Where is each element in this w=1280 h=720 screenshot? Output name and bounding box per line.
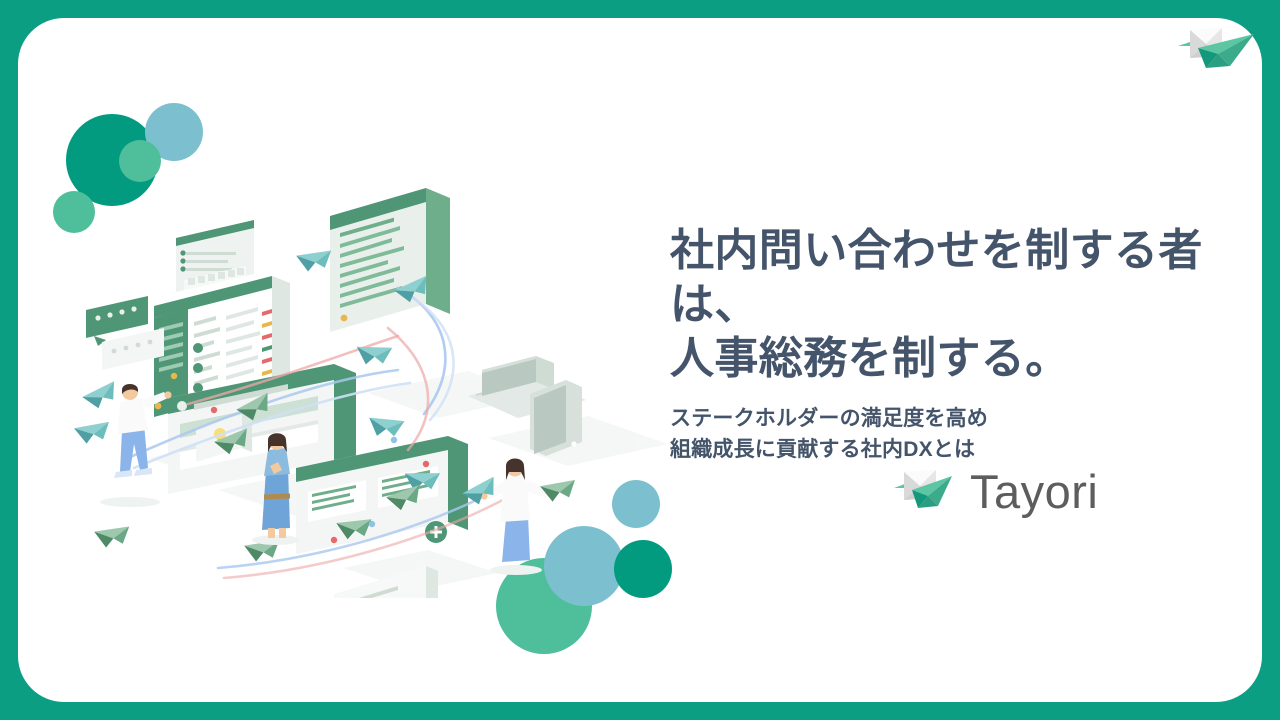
brand-lockup: Tayori [894,462,1098,521]
person-woman-right [460,459,575,576]
ui-chat-bubbles [86,296,164,370]
device-tablet [530,380,582,456]
slide-root: 社内問い合わせを制する者は、 人事総務を制する。 ステークホルダーの満足度を高め… [0,0,1280,720]
slide-card: 社内問い合わせを制する者は、 人事総務を制する。 ステークホルダーの満足度を高め… [18,18,1262,702]
tayori-logo-icon [894,462,956,521]
isometric-illustration [68,168,688,598]
tayori-wordmark: Tayori [970,468,1098,515]
text-column: 社内問い合わせを制する者は、 人事総務を制する。 ステークホルダーの満足度を高め… [670,224,1262,466]
ui-card-document-tall [330,188,450,332]
page-title: 社内問い合わせを制する者は、 人事総務を制する。 [670,224,1262,386]
ui-card-checklist [176,220,254,292]
tayori-corner-logo-icon [1178,22,1262,74]
page-subtitle: ステークホルダーの満足度を高め 組織成長に貢献する社内DXとは [670,404,1262,465]
